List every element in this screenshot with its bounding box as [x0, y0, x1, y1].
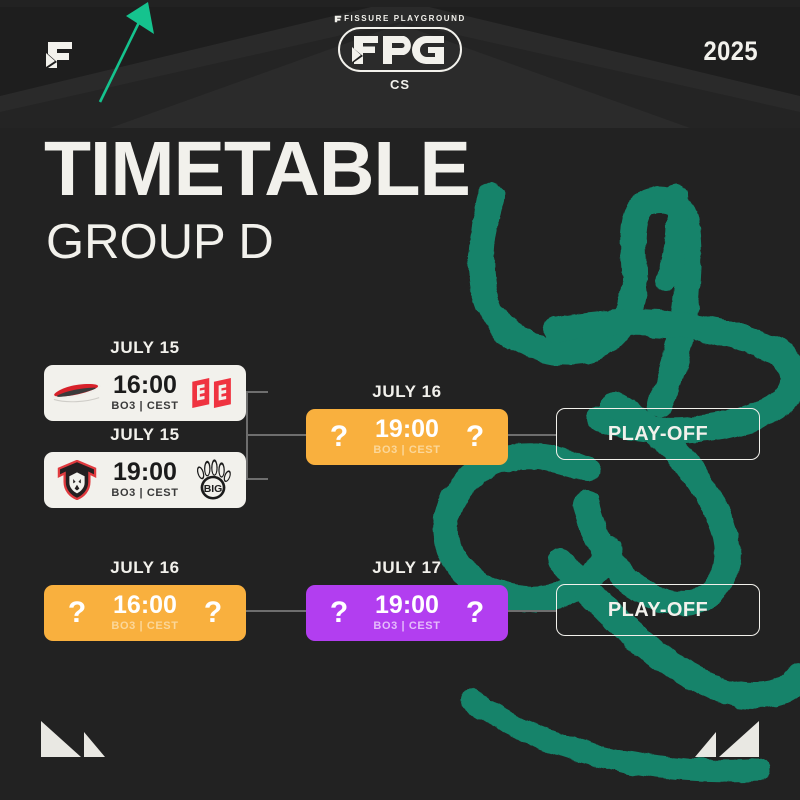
- match-card[interactable]: ? 19:00 BO3 | CEST ?: [306, 409, 508, 465]
- match-card[interactable]: 19:00 BO3 | CEST: [44, 452, 246, 508]
- match-time: 19:00: [375, 417, 439, 443]
- tbd-placeholder-label: ?: [204, 598, 222, 628]
- team-tbd-left: ?: [306, 409, 372, 465]
- event-logo: FISSURE PLAYGROUND CS: [305, 14, 495, 92]
- match-time: 19:00: [113, 460, 177, 486]
- team-tbd-left: ?: [44, 585, 110, 641]
- tbd-placeholder-label: ?: [466, 422, 484, 452]
- fissure-f-small-icon: [334, 15, 342, 23]
- year-label: 2025: [703, 36, 758, 67]
- match-format: BO3 | CEST: [373, 443, 440, 457]
- playoff-lower[interactable]: PLAY-OFF: [556, 584, 760, 636]
- match-format: BO3 | CEST: [111, 486, 178, 500]
- tbd-placeholder-label: ?: [466, 598, 484, 628]
- double-triangle-right-icon: [694, 720, 760, 758]
- match-card[interactable]: ? 19:00 BO3 | CEST ?: [306, 585, 508, 641]
- match-card[interactable]: ? 16:00 BO3 | CEST ?: [44, 585, 246, 641]
- team-tbd-right: ?: [442, 409, 508, 465]
- fissure-f-monogram-icon: [44, 40, 76, 70]
- match-slot: JULY 16 ? 19:00 BO3 | CEST ?: [306, 382, 508, 465]
- match-slot: JULY 16 ? 16:00 BO3 | CEST ?: [44, 558, 246, 641]
- connector-line: [508, 434, 556, 436]
- playoff-label: PLAY-OFF: [608, 599, 708, 622]
- team-tbd-right: ?: [180, 585, 246, 641]
- fpg-wordmark-icon: [352, 35, 448, 65]
- match-card[interactable]: 16:00 BO3 | CEST: [44, 365, 246, 421]
- match-time: 16:00: [113, 373, 177, 399]
- logo-tagline-text: FISSURE PLAYGROUND: [344, 14, 466, 23]
- bracket: JULY 15 16:00 BO3 | CEST: [0, 0, 800, 800]
- match-time: 16:00: [113, 593, 177, 619]
- tbd-placeholder-label: ?: [330, 598, 348, 628]
- logo-tagline-row: FISSURE PLAYGROUND: [305, 14, 495, 23]
- team-logo-swoosh: [44, 365, 110, 421]
- playoff-label: PLAY-OFF: [608, 423, 708, 446]
- match-slot: JULY 15 19:00 BO3 | CEST: [44, 425, 246, 508]
- match-format: BO3 | CEST: [373, 619, 440, 633]
- match-format: BO3 | CEST: [111, 619, 178, 633]
- match-time: 19:00: [375, 593, 439, 619]
- connector-line: [246, 391, 268, 393]
- match-date: JULY 15: [44, 425, 246, 445]
- logo-pill: [338, 27, 462, 72]
- connector-line: [508, 610, 556, 612]
- connector-line: [246, 434, 310, 436]
- connector-line: [246, 478, 268, 480]
- match-date: JULY 17: [306, 558, 508, 578]
- logo-game-label: CS: [305, 77, 495, 92]
- team-logo-big-paw: BIG: [180, 452, 246, 508]
- match-info: 19:00 BO3 | CEST: [110, 460, 180, 501]
- double-triangle-left-icon: [40, 720, 106, 758]
- match-date: JULY 15: [44, 338, 246, 358]
- tbd-placeholder-label: ?: [330, 422, 348, 452]
- team-logo-crest: [44, 452, 110, 508]
- connector-line: [246, 610, 310, 612]
- match-info: 19:00 BO3 | CEST: [372, 417, 442, 458]
- team-tbd-right: ?: [442, 585, 508, 641]
- match-slot: JULY 17 ? 19:00 BO3 | CEST ?: [306, 558, 508, 641]
- team-logo-bb: [180, 365, 246, 421]
- tbd-placeholder-label: ?: [68, 598, 86, 628]
- match-info: 16:00 BO3 | CEST: [110, 593, 180, 634]
- team-tbd-left: ?: [306, 585, 372, 641]
- match-date: JULY 16: [306, 382, 508, 402]
- match-format: BO3 | CEST: [111, 399, 178, 413]
- playoff-upper[interactable]: PLAY-OFF: [556, 408, 760, 460]
- match-info: 16:00 BO3 | CEST: [110, 373, 180, 414]
- match-date: JULY 16: [44, 558, 246, 578]
- match-slot: JULY 15 16:00 BO3 | CEST: [44, 338, 246, 421]
- svg-text:BIG: BIG: [204, 484, 223, 495]
- match-info: 19:00 BO3 | CEST: [372, 593, 442, 634]
